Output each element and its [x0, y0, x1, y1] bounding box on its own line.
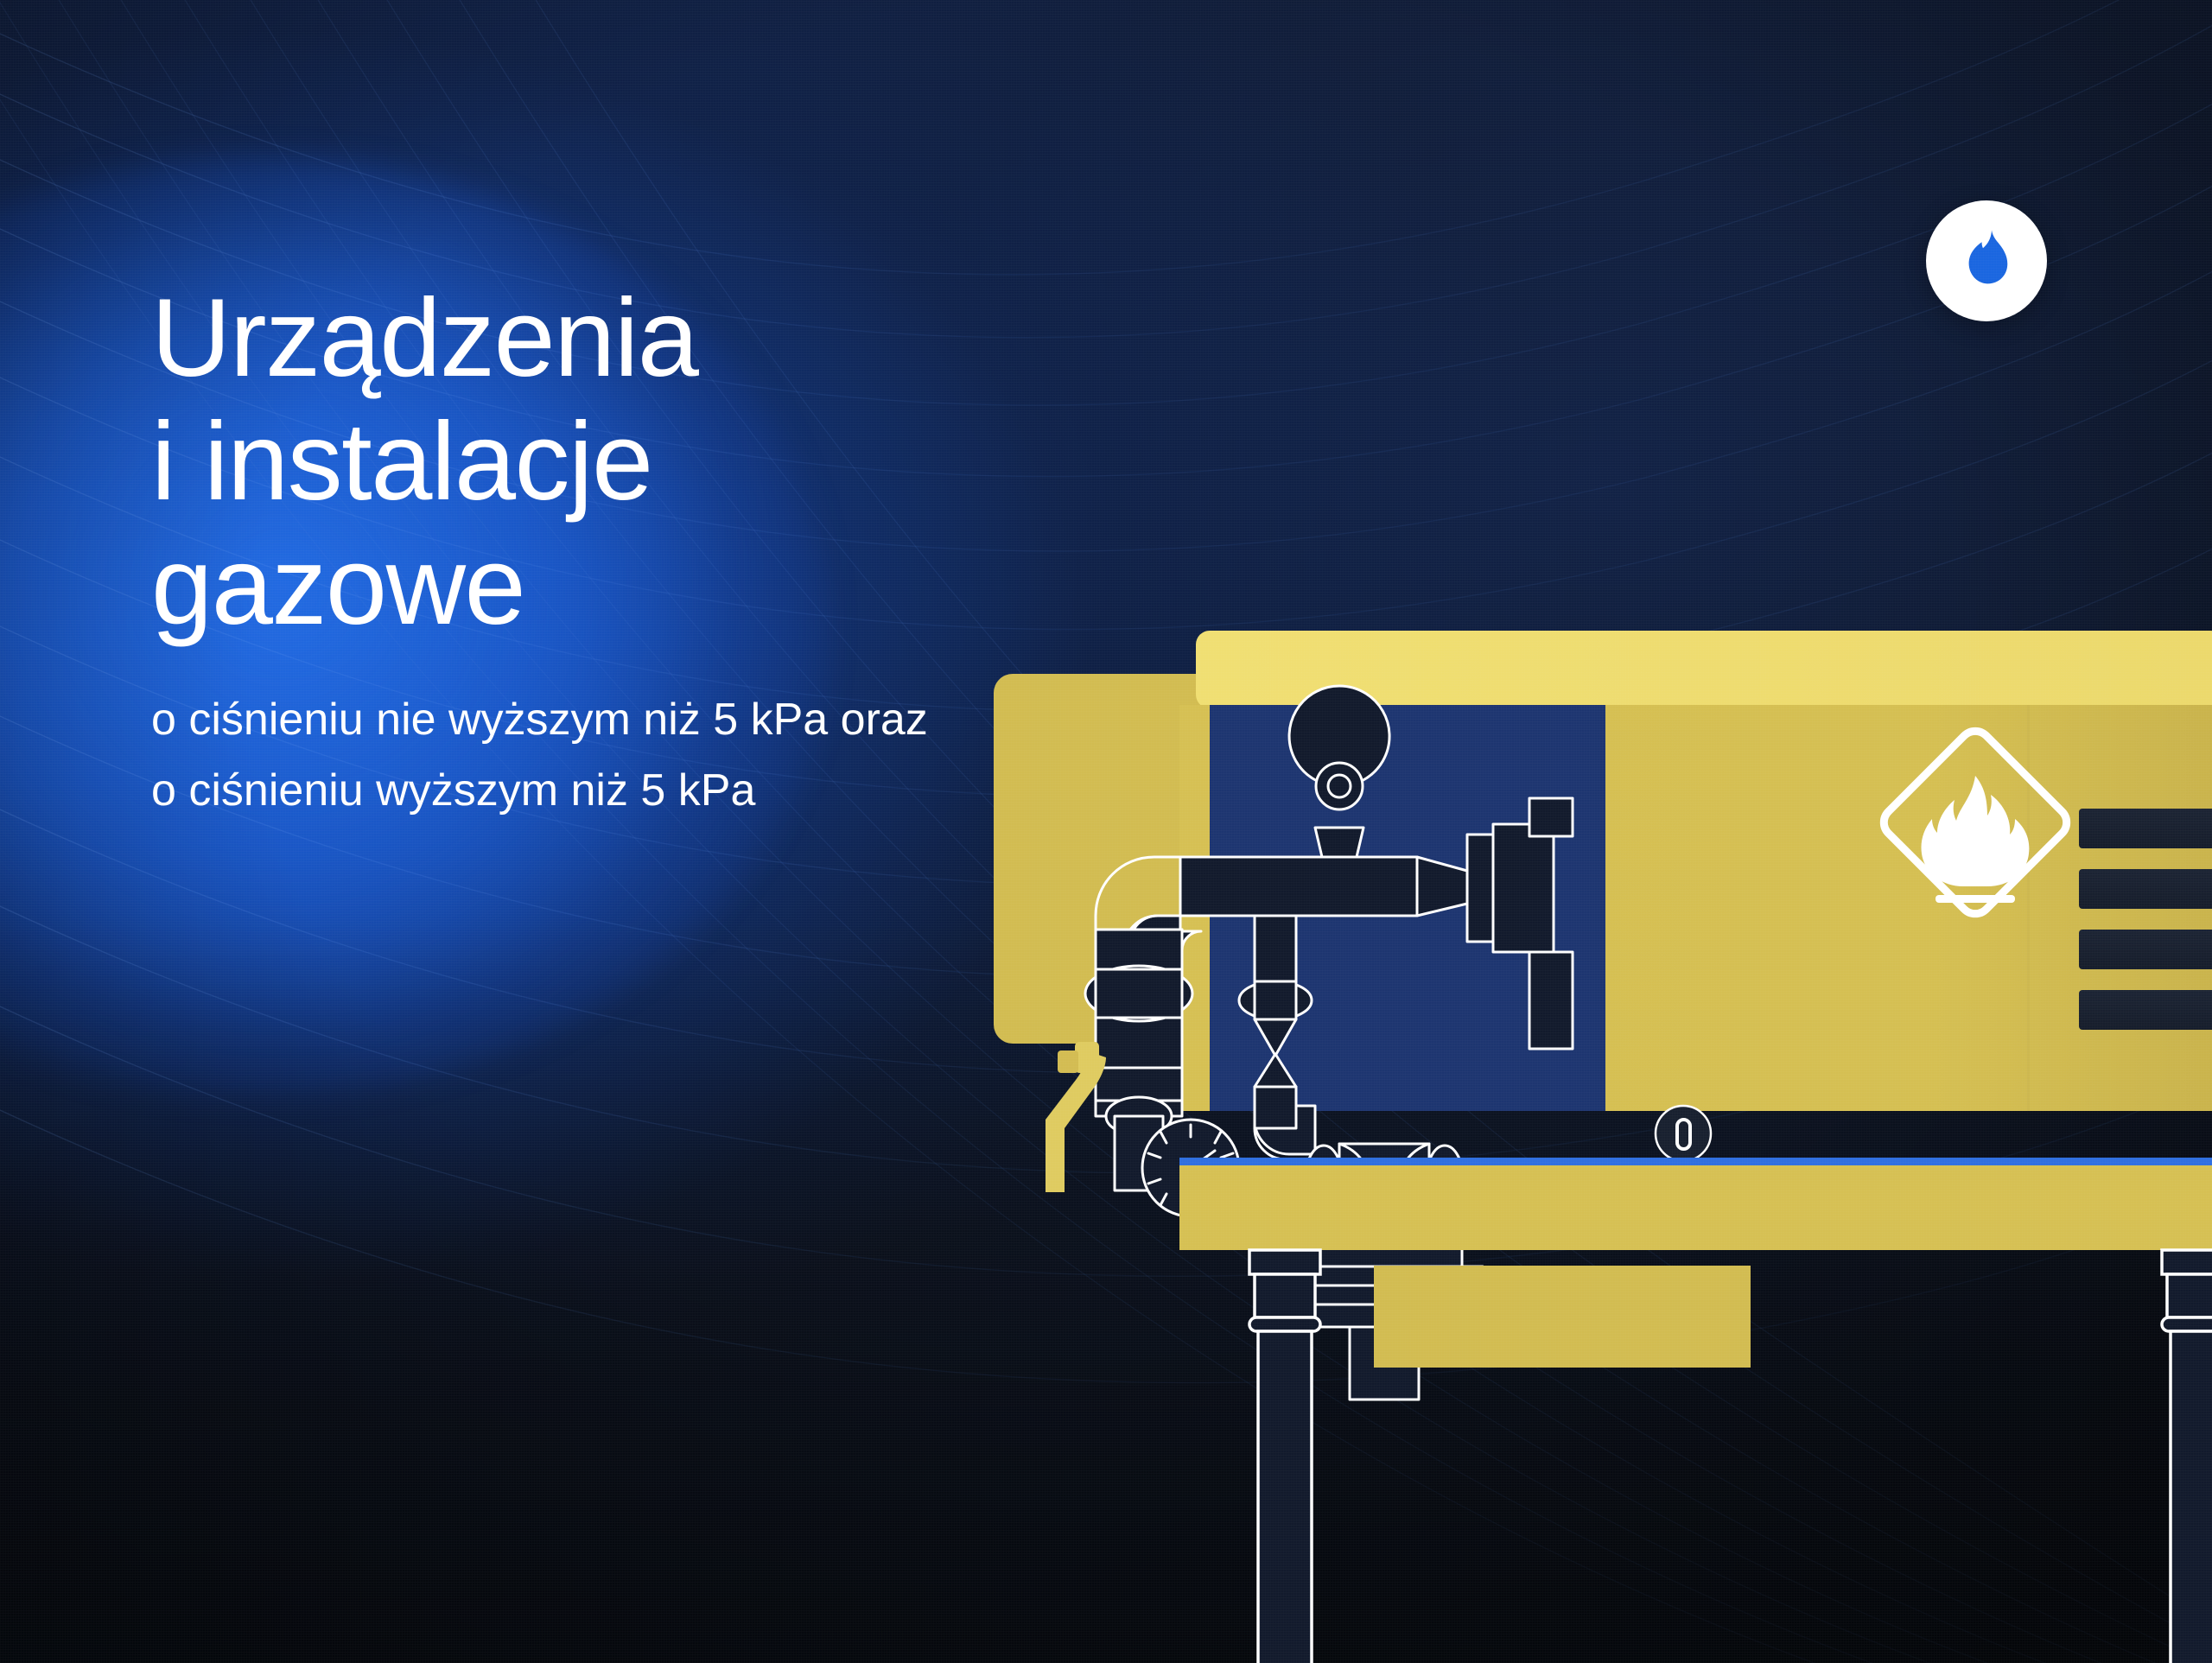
leg-ring: [1249, 1317, 1320, 1331]
vent-slot: [2079, 990, 2212, 1030]
knob-stem: [1315, 828, 1363, 857]
page-title: Urządzenia i instalacje gazowe: [151, 276, 1015, 648]
lower-plate: [1374, 1266, 1751, 1368]
gas-installation-illustration: [994, 622, 2212, 1663]
outlet-lower: [1529, 952, 1573, 1049]
panel-seam: [2027, 705, 2030, 1111]
leg-ring: [2162, 1317, 2212, 1331]
brand-logo[interactable]: [1926, 200, 2047, 321]
flame-icon: [1949, 224, 2024, 298]
slide-canvas: Urządzenia i instalacje gazowe o ciśnien…: [0, 0, 2212, 1663]
page-subtitle: o ciśnieniu nie wyższym niż 5 kPa oraz o…: [151, 684, 955, 826]
leg-shaft: [2171, 1331, 2212, 1663]
vent-slot: [2079, 809, 2212, 848]
text-block: Urządzenia i instalacje gazowe o ciśnien…: [151, 276, 1015, 826]
leg-top-cap: [1249, 1250, 1320, 1274]
outlet-cap: [1529, 798, 1573, 836]
blue-accent-line: [1179, 1158, 2212, 1165]
vent-slot: [2079, 930, 2212, 969]
leg-shaft: [1258, 1331, 1312, 1663]
outlet-block: [1493, 824, 1554, 952]
leg-top-cap: [2162, 1250, 2212, 1274]
top-horizontal-pipe: [1180, 857, 1417, 916]
leg-collar: [2167, 1274, 2212, 1317]
keyhole-icon[interactable]: [1656, 1106, 1711, 1161]
knob-ring-inner: [1328, 775, 1351, 797]
flange-connector: [1467, 835, 1493, 942]
lower-collar: [1096, 1068, 1182, 1101]
base-shelf: [1179, 1165, 2212, 1250]
leg-collar: [1255, 1274, 1315, 1317]
vent-slot: [2079, 869, 2212, 909]
drop-pipe-band: [1255, 981, 1296, 1019]
regulator-inlet-pipe: [1255, 1087, 1296, 1128]
pipe-union-band: [1096, 969, 1182, 1018]
